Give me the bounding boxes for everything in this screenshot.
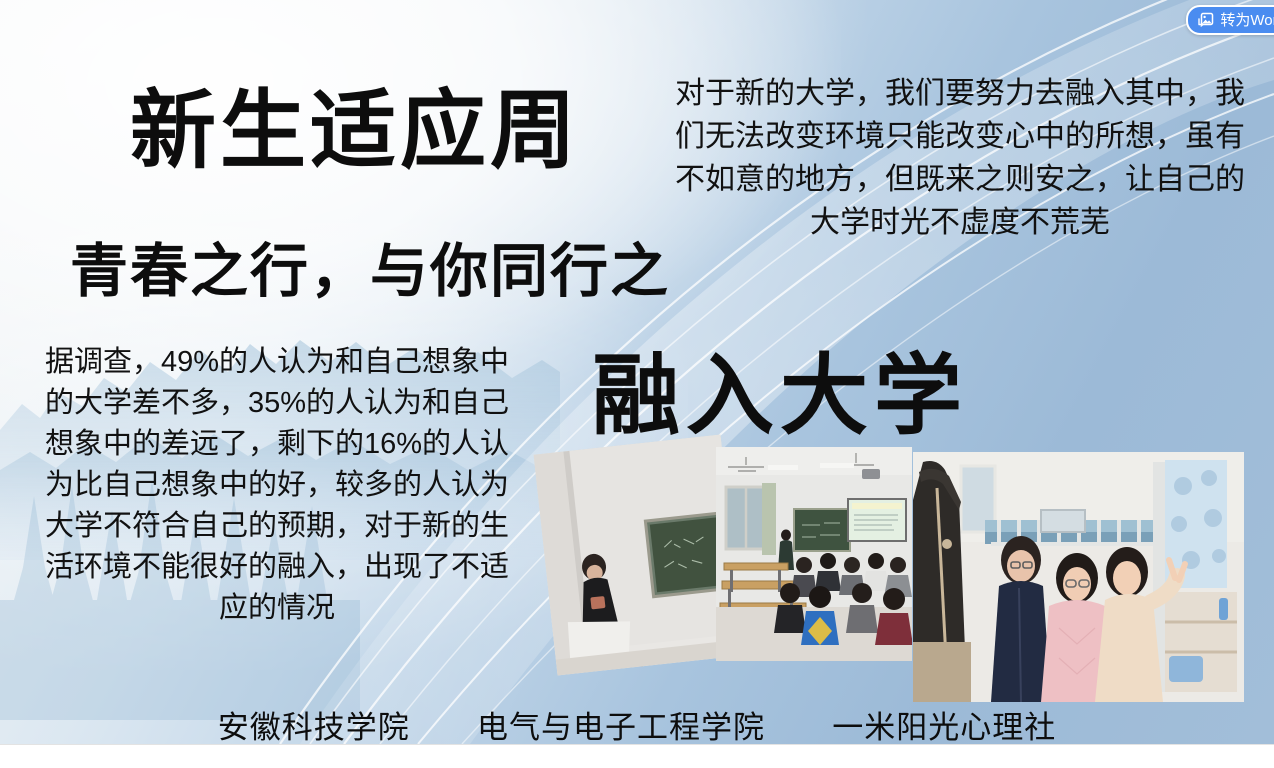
slide-subtitle: 青春之行，与你同行之 [70,243,670,301]
viewer-bottom-strip [0,744,1274,768]
slide-canvas: 新生适应周 青春之行，与你同行之 融入大学 对于新的大学，我们要努力去融入其中，… [0,0,1274,744]
footer-club: 一米阳光心理社 [832,702,1056,744]
classroom-photo-image [716,447,912,661]
podium-photo-image [534,434,745,675]
convert-to-word-label: 转为Word [1220,13,1274,28]
paragraph-right: 对于新的大学，我们要努力去融入其中，我们无法改变环境只能改变心中的所想，虽有不如… [672,72,1248,244]
presentation-slide: 新生适应周 青春之行，与你同行之 融入大学 对于新的大学，我们要努力去融入其中，… [0,0,1274,768]
podium-photo [534,434,745,675]
footer-university: 安徽科技学院 [218,702,410,744]
footer-college: 电气与电子工程学院 [477,702,765,744]
classroom-photo [716,447,912,661]
page-title: 新生适应周 [130,88,580,174]
convert-to-word-button[interactable]: 转为Word [1186,5,1274,35]
slide-section-heading: 融入大学 [592,352,968,440]
paragraph-left: 据调查，49%的人认为和自己想象中的大学差不多，35%的人认为和自己想象中的差远… [38,342,516,629]
dorm-photo-image [913,452,1244,702]
image-to-word-icon [1197,12,1214,28]
footer-credits: 安徽科技学院 电气与电子工程学院 一米阳光心理社 [0,702,1274,744]
dorm-photo [913,452,1244,702]
